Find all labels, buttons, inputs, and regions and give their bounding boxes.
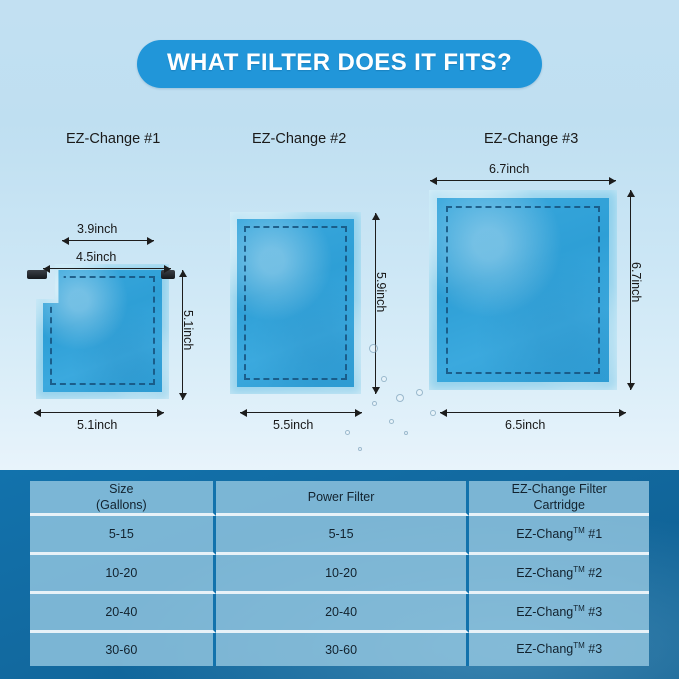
filter-3-stitching: [446, 206, 600, 374]
bubble-decoration: [416, 389, 423, 396]
product-heading-3: EZ-Change #3: [484, 131, 578, 147]
cartridge-number: #2: [585, 566, 602, 580]
filter-3-dim-label-width: 6.5inch: [505, 418, 545, 432]
filter-1-dim-label-height: 5.1inch: [181, 310, 195, 350]
bubble-decoration: [372, 401, 377, 406]
bubble-decoration: [381, 376, 387, 382]
bubble-decoration: [345, 430, 350, 435]
table-row: 30-60 30-60 EZ-ChangTM #3: [30, 633, 649, 666]
bubble-decoration: [369, 344, 378, 353]
cell-cartridge: EZ-ChangTM #3: [469, 633, 649, 666]
bubble-decoration: [430, 410, 436, 416]
product-comparison-area: EZ-Change #1 EZ-Change #2 EZ-Change #3 3…: [0, 0, 679, 470]
cell-power-filter: 10-20: [216, 555, 470, 594]
column-header-size: Size (Gallons): [30, 481, 216, 516]
product-heading-2: EZ-Change #2: [252, 131, 346, 147]
filter-2-stitching: [244, 226, 347, 380]
table-row: 20-40 20-40 EZ-ChangTM #3: [30, 594, 649, 633]
table-row: 5-15 5-15 EZ-ChangTM #1: [30, 516, 649, 555]
column-header-power-filter: Power Filter: [216, 481, 470, 516]
table-header-row: Size (Gallons) Power Filter EZ-Change Fi…: [30, 481, 649, 516]
cell-power-filter: 20-40: [216, 594, 470, 633]
cell-size: 10-20: [30, 555, 216, 594]
filter-1-dim-label-top-inner: 3.9inch: [77, 222, 117, 236]
cell-size: 5-15: [30, 516, 216, 555]
filter-1-dim-line-top-outer: [43, 268, 171, 269]
filter-1-dim-label-width: 5.1inch: [77, 418, 117, 432]
cell-size: 20-40: [30, 594, 216, 633]
cell-cartridge: EZ-ChangTM #3: [469, 594, 649, 633]
filter-1-dim-label-top-outer: 4.5inch: [76, 250, 116, 264]
bubble-decoration: [358, 447, 362, 451]
filter-3-dim-line-top: [430, 180, 616, 181]
cartridge-name: EZ-Chang: [516, 527, 573, 541]
cartridge-name: EZ-Chang: [516, 566, 573, 580]
filter-1-stitching: [50, 276, 155, 385]
filter-2-dim-line-width: [240, 412, 362, 413]
column-header-size-line1: Size: [109, 482, 133, 496]
bubble-decoration: [396, 394, 404, 402]
compatibility-table-panel: Size (Gallons) Power Filter EZ-Change Fi…: [0, 470, 679, 679]
cell-size: 30-60: [30, 633, 216, 666]
cartridge-name: EZ-Chang: [516, 605, 573, 619]
filter-2-dim-label-width: 5.5inch: [273, 418, 313, 432]
trademark-mark: TM: [573, 604, 585, 613]
column-header-cartridge-line2: Cartridge: [534, 498, 585, 512]
filter-3-dim-label-height: 6.7inch: [629, 262, 643, 302]
trademark-mark: TM: [573, 641, 585, 650]
cell-cartridge: EZ-ChangTM #2: [469, 555, 649, 594]
filter-cartridge-3: [429, 190, 617, 390]
column-header-cartridge-line1: EZ-Change Filter: [512, 482, 607, 496]
bubble-decoration: [389, 419, 394, 424]
bubble-decoration: [404, 431, 408, 435]
compatibility-table: Size (Gallons) Power Filter EZ-Change Fi…: [30, 481, 649, 666]
trademark-mark: TM: [573, 565, 585, 574]
cartridge-number: #1: [585, 527, 602, 541]
filter-1-dim-line-width: [34, 412, 164, 413]
cell-power-filter: 30-60: [216, 633, 470, 666]
product-heading-1: EZ-Change #1: [66, 131, 160, 147]
filter-2-dim-label-height: 5.9inch: [374, 272, 388, 312]
cartridge-number: #3: [585, 643, 602, 657]
cartridge-name: EZ-Chang: [516, 643, 573, 657]
column-header-cartridge: EZ-Change Filter Cartridge: [469, 481, 649, 516]
filter-1-dim-line-top-inner: [62, 240, 154, 241]
filter-cartridge-1: [36, 264, 169, 399]
cartridge-number: #3: [585, 605, 602, 619]
infographic-page: WHAT FILTER DOES IT FITS? EZ-Change #1 E…: [0, 0, 679, 679]
filter-3-dim-line-width: [440, 412, 626, 413]
cell-power-filter: 5-15: [216, 516, 470, 555]
column-header-size-line2: (Gallons): [96, 498, 147, 512]
table-row: 10-20 10-20 EZ-ChangTM #2: [30, 555, 649, 594]
filter-cartridge-2: [230, 212, 361, 394]
filter-3-dim-label-top: 6.7inch: [489, 162, 529, 176]
trademark-mark: TM: [573, 526, 585, 535]
cell-cartridge: EZ-ChangTM #1: [469, 516, 649, 555]
